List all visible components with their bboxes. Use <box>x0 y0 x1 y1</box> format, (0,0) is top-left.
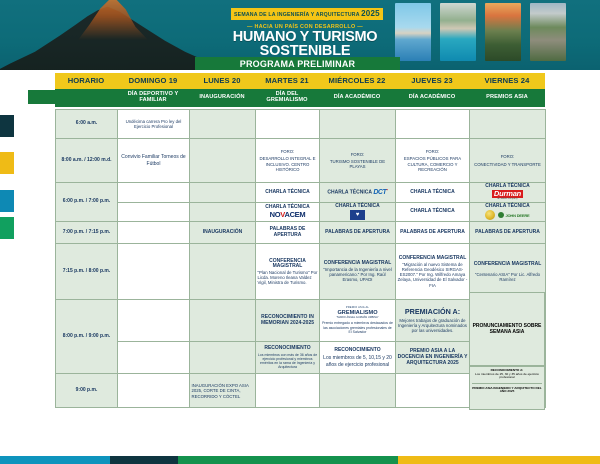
day-header-row: HORARIO DOMINGO 19 LUNES 20 MARTES 21 MI… <box>55 73 545 89</box>
cell-mar-0600pm-a: CHARLA TÉCNICA <box>256 183 320 203</box>
event-kicker-text: SEMANA DE LA INGENIERÍA Y ARQUITECTURA <box>234 12 359 18</box>
schedule-header: HORARIO DOMINGO 19 LUNES 20 MARTES 21 MI… <box>55 73 545 107</box>
cell-jue-0800pm-a: PREMIACIÓN A: Mejores trabajos de gradua… <box>396 300 470 342</box>
cell-vie-0700pm: PALABRAS DE APERTURA <box>470 222 546 244</box>
table-row: 6:00 a.m. Undécima carrera Pro ley del E… <box>56 110 546 139</box>
foro-label: FORO: <box>472 154 544 159</box>
cell-mar-0700pm: PALABRAS DE APERTURA <box>256 222 320 244</box>
cell-text: DESARROLLO INTEGRAL E INCLUSIVO. CENTRO … <box>258 156 318 171</box>
cell-jue-0600 <box>396 110 470 139</box>
theme-blank <box>55 89 117 107</box>
durman-logo-sub: an aliaxis company <box>472 198 544 201</box>
cell-mie-0600pm-b: CHARLA TÉCNICA ♥ <box>320 202 396 222</box>
cell-text: Undécima carrera Pro ley del Ejercicio P… <box>120 119 188 129</box>
cell-text: Premio entregado a miembros destacados d… <box>322 321 394 334</box>
program-preliminar-banner: PROGRAMA PRELIMINAR <box>195 57 400 70</box>
event-year: 2025 <box>361 9 380 18</box>
theme-header-row: DÍA DEPORTIVO Y FAMILIAR INAUGURACIÓN DÍ… <box>55 89 545 107</box>
cell-vie-0800am: FORO: CONECTIVIDAD Y TRANSPORTE <box>470 139 546 183</box>
cell-dom-0600: Undécima carrera Pro ley del Ejercicio P… <box>118 110 190 139</box>
cell-text: Los miembros de 5, 10,15 y 20 años de ej… <box>322 355 394 367</box>
theme-martes: DÍA DEL GREMIALISMO <box>255 89 319 107</box>
table-row: 8:00 a.m. / 12:00 m.d. Convivio Familiar… <box>56 139 546 183</box>
cell-vie-0600pm-b: CHARLA TÉCNICA JOHN DEERE <box>470 202 546 222</box>
cell-text: Mejores trabajos de graduación de Ingeni… <box>398 318 468 333</box>
theme-miercoles: DÍA ACADÉMICO <box>319 89 395 107</box>
table-row: 6:00 p.m. / 7:00 p.m. CHARLA TÉCNICA CHA… <box>56 183 546 203</box>
event-title-line2: SOSTENIBLE <box>231 44 379 59</box>
foro-label: FORO: <box>258 149 318 154</box>
cell-text: "Centenario ASIA" Por Lic. Alfredo Ramír… <box>472 272 544 282</box>
cell-mie-0800pm-a: PREMIO ASIA AL GREMIALISMO "MARIO ÁNGEL … <box>320 300 396 342</box>
reconocimiento-title: RECONOCIMIENTO <box>258 346 318 352</box>
cell-lun-0800am <box>190 139 256 183</box>
footer-segment-yellow <box>398 456 600 464</box>
cell-lun-0600pm-a <box>190 183 256 203</box>
cell-dom-0600pm-b <box>118 202 190 222</box>
cell-lun-0700pm: INAUGURACIÓN <box>190 222 256 244</box>
cell-text: INAUGURACIÓN <box>203 229 242 235</box>
john-deere-emblem <box>485 210 495 220</box>
cell-dom-0700pm <box>118 222 190 244</box>
cell-mie-0715pm: CONFERENCIA MAGISTRAL "Importancia de la… <box>320 244 396 300</box>
cell-mie-0600pm-a: CHARLA TÉCNICA DCT● <box>320 183 396 203</box>
cell-text: PALABRAS DE APERTURA <box>270 226 306 238</box>
cell-dom-0800am: Convivio Familiar Torneos de Fútbol <box>118 139 190 183</box>
cell-lun-0800pm-a <box>190 300 256 342</box>
conference-title: CONFERENCIA MAGISTRAL <box>472 262 544 268</box>
theme-domingo: DÍA DEPORTIVO Y FAMILIAR <box>117 89 189 107</box>
badge-honoree: "MARIO ÁNGEL GUZMÁN URBINA" <box>322 317 394 320</box>
header-jueves: JUEVES 23 <box>395 73 469 89</box>
cell-text: PALABRAS DE APERTURA <box>400 229 465 235</box>
cell-lun-0900pm: INAUGURACIÓN EXPO ASIA 2025, CORTE DE CI… <box>190 374 256 408</box>
cell-lun-0715pm <box>190 244 256 300</box>
theme-jueves: DÍA ACADÉMICO <box>395 89 469 107</box>
cell-jue-0800pm-b: PREMIO ASIA A LA DOCENCIA EN INGENIERÍA … <box>396 341 470 373</box>
photo-sunset-landscape <box>485 3 521 61</box>
row-time-0600pm: 6:00 p.m. / 7:00 p.m. <box>56 183 118 222</box>
table-row: CHARLA TÉCNICA NOVACEM CHARLA TÉCNICA ♥ … <box>56 202 546 222</box>
cell-text: Los miembros de 25, 30 y 35 años de ejer… <box>472 373 542 380</box>
john-deere-wordmark: JOHN DEERE <box>498 212 529 218</box>
cell-jue-0600pm-a: CHARLA TÉCNICA <box>396 183 470 203</box>
cell-sab-pronunciamiento: PRONUNCIAMIENTO SOBRE SEMANA ASIA <box>469 292 545 366</box>
cell-text: "Migración al nuevo Sistema de Referenci… <box>398 262 468 288</box>
row-time-0900pm: 9:00 p.m. <box>56 374 118 408</box>
event-title-line1: HUMANO Y TURISMO <box>231 30 379 44</box>
accent-chip-navy <box>0 115 14 137</box>
cell-dom-0715pm <box>118 244 190 300</box>
footer-segment-green <box>178 456 398 464</box>
cell-mar-0600pm-b: CHARLA TÉCNICA NOVACEM <box>256 202 320 222</box>
cell-vie-0600pm-a: CHARLA TÉCNICA Durman an aliaxis company <box>470 183 546 203</box>
cell-lun-0600pm-b <box>190 202 256 222</box>
row-time-0600: 6:00 a.m. <box>56 110 118 139</box>
cell-text: Los miembros con más de 36 años de ejerc… <box>258 353 318 370</box>
reconocimiento-title: RECONOCIMIENTO <box>322 348 394 354</box>
row-time-0800am: 8:00 a.m. / 12:00 m.d. <box>56 139 118 183</box>
footer-color-bar <box>0 456 600 464</box>
cell-lun-0800pm-b <box>190 341 256 373</box>
argos-logo: ♥ <box>322 210 394 220</box>
header-viernes: VIERNES 24 <box>469 73 545 89</box>
dct-logo: DCT● <box>373 189 387 196</box>
row-time-0715pm: 7:15 p.m. / 8:00 p.m. <box>56 244 118 300</box>
cell-text: "Plan Nacional de Turismo" Por Licda. Mo… <box>258 270 318 285</box>
table-row: 7:00 p.m. / 7:15 p.m. INAUGURACIÓN PALAB… <box>56 222 546 244</box>
row-time-0700pm: 7:00 p.m. / 7:15 p.m. <box>56 222 118 244</box>
cell-dom-0900pm <box>118 374 190 408</box>
foro-label: FORO: <box>398 149 468 154</box>
cell-dom-0800pm-a <box>118 300 190 342</box>
cell-jue-0700pm: PALABRAS DE APERTURA <box>396 222 470 244</box>
cell-mar-0715pm: CONFERENCIA MAGISTRAL "Plan Nacional de … <box>256 244 320 300</box>
premio-asia-gremialismo-badge: PREMIO ASIA AL GREMIALISMO "MARIO ÁNGEL … <box>322 307 394 319</box>
premiacion-title: PREMIACIÓN A: <box>398 308 468 316</box>
cell-text: CHARLA TÉCNICA <box>485 203 530 209</box>
cell-mie-0800am: FORO: TURISMO SOSTENIBLE DE PLAYAS <box>320 139 396 183</box>
header-lunes: LUNES 20 <box>189 73 255 89</box>
cell-text: RECONOCIMIENTO IN MEMORIAN 2024-2025 <box>261 314 314 326</box>
conference-title: CONFERENCIA MAGISTRAL <box>258 259 318 270</box>
cell-text: INAUGURACIÓN EXPO ASIA 2025, CORTE DE CI… <box>192 383 254 398</box>
cell-mie-0800pm-b: RECONOCIMIENTO Los miembros de 5, 10,15 … <box>320 341 396 373</box>
cell-text: PALABRAS DE APERTURA <box>475 229 540 235</box>
foro-label: FORO: <box>322 152 394 157</box>
row-time-0800pm: 8:00 p.m. / 9:00 p.m. <box>56 300 118 374</box>
photo-national-palace <box>395 3 431 61</box>
theme-lunes: INAUGURACIÓN <box>189 89 255 107</box>
cell-sab-reconocimiento: RECONOCIMIENTO A: Los miembros de 25, 30… <box>469 366 545 410</box>
theme-viernes: PREMIOS ASIA <box>469 89 545 107</box>
cell-mar-0800pm-b: RECONOCIMIENTO Los miembros con más de 3… <box>256 341 320 373</box>
photo-coastal-port <box>440 3 476 61</box>
cell-mar-0600 <box>256 110 320 139</box>
cell-text: ESPACIOS PÚBLICOS PARA CULTURA, COMERCIO… <box>398 156 468 171</box>
john-deere-logo: JOHN DEERE <box>472 210 544 220</box>
premio-asia-ingeniero-badge: PREMIO ASIA INGENIERO Y ARQUITECTO DEL A… <box>472 383 542 394</box>
cell-text: PALABRAS DE APERTURA <box>325 229 390 235</box>
cell-mie-0700pm: PALABRAS DE APERTURA <box>320 222 396 244</box>
cell-text: CHARLA TÉCNICA <box>265 189 310 195</box>
cell-text: TURISMO SOSTENIBLE DE PLAYAS <box>322 159 394 169</box>
novacem-logo: NOVACEM <box>270 210 306 219</box>
cell-mar-0800am: FORO: DESARROLLO INTEGRAL E INCLUSIVO. C… <box>256 139 320 183</box>
cell-mie-0600 <box>320 110 396 139</box>
event-kicker-bar: SEMANA DE LA INGENIERÍA Y ARQUITECTURA 2… <box>231 8 383 20</box>
accent-chip-green <box>0 217 14 239</box>
cell-lun-0600 <box>190 110 256 139</box>
cell-text: CHARLA TÉCNICA <box>327 190 372 196</box>
cell-dom-0800pm-b <box>118 341 190 373</box>
footer-segment-cyan <box>0 456 110 464</box>
cell-jue-0900pm <box>396 374 470 408</box>
cell-dom-0600pm-a <box>118 183 190 203</box>
cell-text: Convivio Familiar Torneos de Fútbol <box>120 154 188 166</box>
cell-text: CHARLA TÉCNICA <box>410 189 455 195</box>
photo-scenic-road <box>530 3 566 61</box>
header-horario: HORARIO <box>55 73 117 89</box>
cell-text: CONECTIVIDAD Y TRANSPORTE <box>472 162 544 167</box>
cell-text: CHARLA TÉCNICA <box>335 203 380 209</box>
cell-text: PRONUNCIAMIENTO SOBRE SEMANA ASIA <box>472 323 542 335</box>
cell-mar-0900pm <box>256 374 320 408</box>
header-domingo: DOMINGO 19 <box>117 73 189 89</box>
header-miercoles: MIÉRCOLES 22 <box>319 73 395 89</box>
accent-chip-cyan <box>0 190 14 212</box>
cell-mar-0800pm-a: RECONOCIMIENTO IN MEMORIAN 2024-2025 <box>256 300 320 342</box>
cell-jue-0600pm-b: CHARLA TÉCNICA <box>396 202 470 222</box>
cell-text: PREMIO ASIA A LA DOCENCIA EN INGENIERÍA … <box>398 348 468 365</box>
accent-chip-yellow <box>0 152 14 174</box>
footer-segment-navy <box>110 456 178 464</box>
cell-jue-0715pm: CONFERENCIA MAGISTRAL "Migración al nuev… <box>396 244 470 300</box>
cell-mie-0900pm <box>320 374 396 408</box>
cell-text: "Importancia de la Ingeniería a nivel pa… <box>322 267 394 282</box>
destination-photo-strip <box>395 3 566 61</box>
header-martes: MARTES 21 <box>255 73 319 89</box>
cell-vie-0600 <box>470 110 546 139</box>
cell-jue-0800am: FORO: ESPACIOS PÚBLICOS PARA CULTURA, CO… <box>396 139 470 183</box>
cell-text: CHARLA TÉCNICA <box>410 208 455 214</box>
